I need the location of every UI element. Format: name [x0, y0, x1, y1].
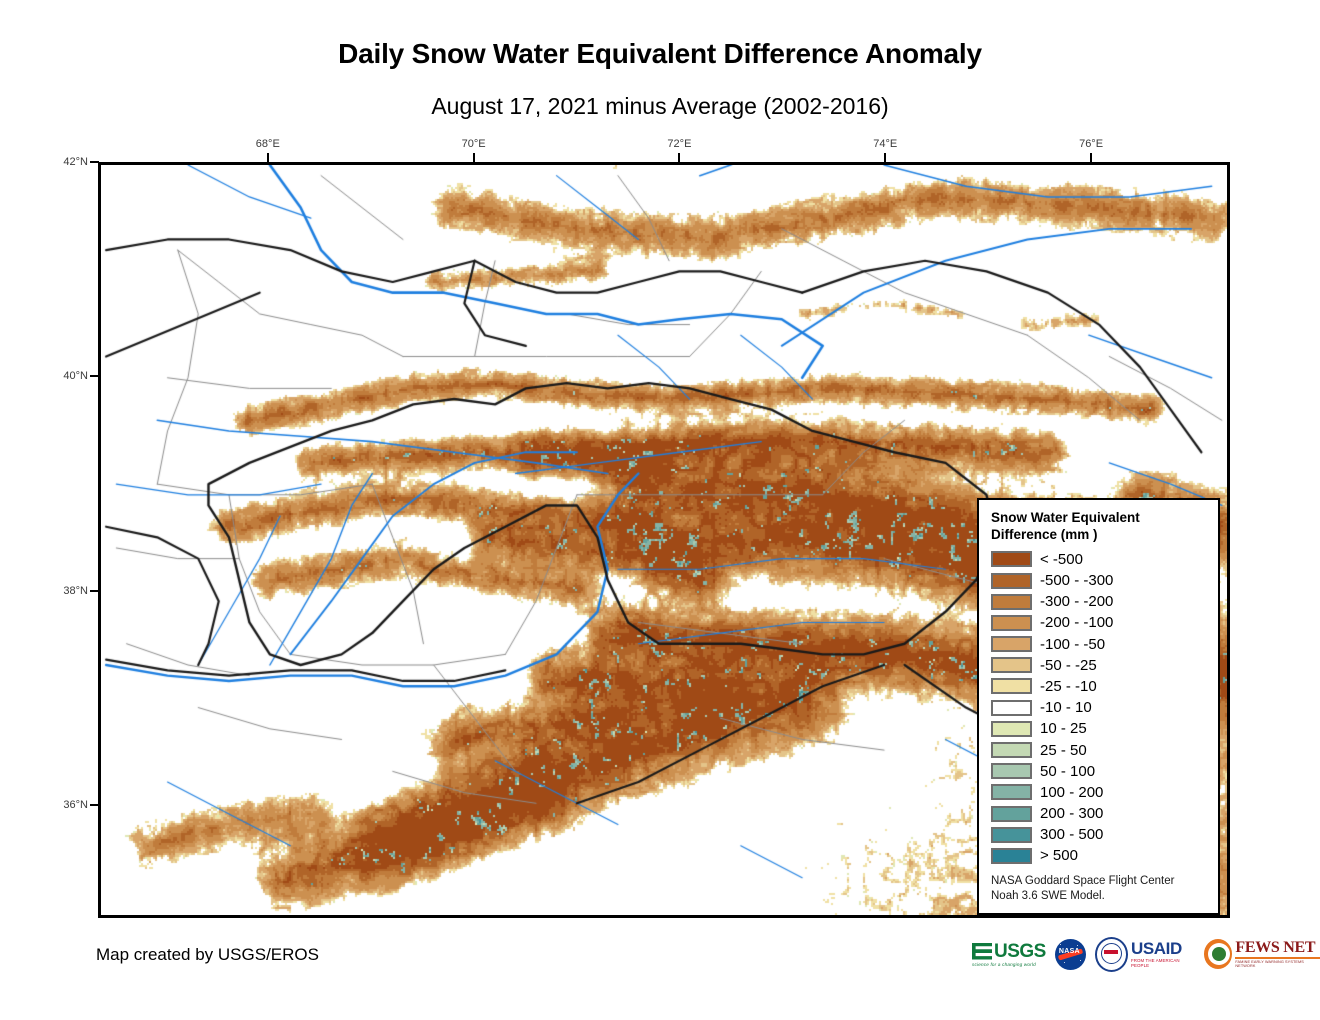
- legend-color-swatch: [991, 678, 1032, 694]
- legend-color-swatch: [991, 848, 1032, 864]
- lon-tick-label: 70°E: [462, 138, 486, 150]
- legend-item: -50 - -25: [991, 655, 1208, 676]
- nasa-meatball-icon: NASA: [1055, 939, 1086, 970]
- legend-item-label: < -500: [1040, 552, 1083, 567]
- legend-item: 200 - 300: [991, 803, 1208, 824]
- legend-color-swatch: [991, 806, 1032, 822]
- usaid-logo-tagline: FROM THE AMERICAN PEOPLE: [1131, 958, 1195, 968]
- legend-item: 10 - 25: [991, 718, 1208, 739]
- legend-item: > 500: [991, 845, 1208, 866]
- lon-tick-label: 68°E: [256, 138, 280, 150]
- lon-tick-label: 72°E: [667, 138, 691, 150]
- usgs-mark-icon: [972, 943, 992, 960]
- lon-tick: [267, 153, 269, 162]
- legend-source-note: NASA Goddard Space Flight Center Noah 3.…: [991, 874, 1208, 905]
- fews-net-logo-text: FEWS NET: [1235, 940, 1315, 956]
- legend-item-label: 300 - 500: [1040, 827, 1103, 842]
- legend-item: -25 - -10: [991, 676, 1208, 697]
- fews-globe-icon: [1204, 939, 1232, 969]
- legend-color-swatch: [991, 615, 1032, 631]
- legend-color-swatch: [991, 721, 1032, 737]
- legend-item-label: -100 - -50: [1040, 637, 1105, 652]
- lon-tick-label: 76°E: [1079, 138, 1103, 150]
- lon-tick: [1090, 153, 1092, 162]
- legend-item-label: -50 - -25: [1040, 658, 1097, 673]
- nasa-logo: NASA: [1055, 935, 1086, 973]
- legend-color-swatch: [991, 636, 1032, 652]
- usgs-logo: USGS science for a changing world: [972, 935, 1046, 973]
- legend-item-label: 25 - 50: [1040, 743, 1087, 758]
- legend-item: < -500: [991, 549, 1208, 570]
- legend-color-swatch: [991, 573, 1032, 589]
- legend-item: -500 - -300: [991, 570, 1208, 591]
- usaid-logo: USAID FROM THE AMERICAN PEOPLE: [1095, 935, 1195, 973]
- usaid-logo-text: USAID: [1131, 940, 1182, 957]
- legend-color-swatch: [991, 827, 1032, 843]
- legend-item-label: -500 - -300: [1040, 573, 1113, 588]
- legend-color-swatch: [991, 742, 1032, 758]
- legend-items: < -500-500 - -300-300 - -200-200 - -100-…: [991, 549, 1208, 867]
- fews-net-logo: FEWS NET FAMINE EARLY WARNING SYSTEMS NE…: [1204, 935, 1320, 973]
- usgs-logo-tagline: science for a changing world: [972, 962, 1036, 967]
- legend-item-label: -200 - -100: [1040, 615, 1113, 630]
- legend-item: -10 - 10: [991, 697, 1208, 718]
- footer-logos: USGS science for a changing world NASA U…: [972, 934, 1320, 974]
- lat-tick-label: 36°N: [52, 799, 88, 811]
- nasa-logo-text: NASA: [1059, 948, 1080, 955]
- legend-item: 100 - 200: [991, 782, 1208, 803]
- legend-item-label: > 500: [1040, 848, 1078, 863]
- lon-tick: [473, 153, 475, 162]
- legend-item: -300 - -200: [991, 591, 1208, 612]
- map-credit: Map created by USGS/EROS: [96, 945, 319, 965]
- page-title: Daily Snow Water Equivalent Difference A…: [0, 38, 1320, 70]
- fews-net-logo-tagline: FAMINE EARLY WARNING SYSTEMS NETWORK: [1235, 960, 1320, 968]
- legend-color-swatch: [991, 551, 1032, 567]
- legend-item-label: -10 - 10: [1040, 700, 1092, 715]
- legend-item-label: 10 - 25: [1040, 721, 1087, 736]
- legend-color-swatch: [991, 700, 1032, 716]
- legend-item: -100 - -50: [991, 634, 1208, 655]
- lon-tick-label: 74°E: [873, 138, 897, 150]
- legend-color-swatch: [991, 784, 1032, 800]
- lon-tick: [884, 153, 886, 162]
- legend-item: 25 - 50: [991, 739, 1208, 760]
- legend-color-swatch: [991, 657, 1032, 673]
- lat-tick-label: 42°N: [52, 156, 88, 168]
- legend-item: 300 - 500: [991, 824, 1208, 845]
- legend-item-label: -300 - -200: [1040, 594, 1113, 609]
- lat-tick-label: 40°N: [52, 370, 88, 382]
- lat-tick-label: 38°N: [52, 585, 88, 597]
- page-subtitle: August 17, 2021 minus Average (2002-2016…: [0, 93, 1320, 120]
- legend-item-label: -25 - -10: [1040, 679, 1097, 694]
- legend-item: -200 - -100: [991, 612, 1208, 633]
- lon-tick: [678, 153, 680, 162]
- legend-item: 50 - 100: [991, 761, 1208, 782]
- usaid-seal-icon: [1095, 937, 1128, 972]
- legend-color-swatch: [991, 594, 1032, 610]
- legend-color-swatch: [991, 763, 1032, 779]
- legend-panel: Snow Water Equivalent Difference (mm ) <…: [977, 498, 1220, 915]
- legend-item-label: 200 - 300: [1040, 806, 1103, 821]
- legend-item-label: 50 - 100: [1040, 764, 1095, 779]
- legend-title: Snow Water Equivalent Difference (mm ): [991, 510, 1208, 544]
- usgs-logo-text: USGS: [994, 942, 1046, 961]
- legend-item-label: 100 - 200: [1040, 785, 1103, 800]
